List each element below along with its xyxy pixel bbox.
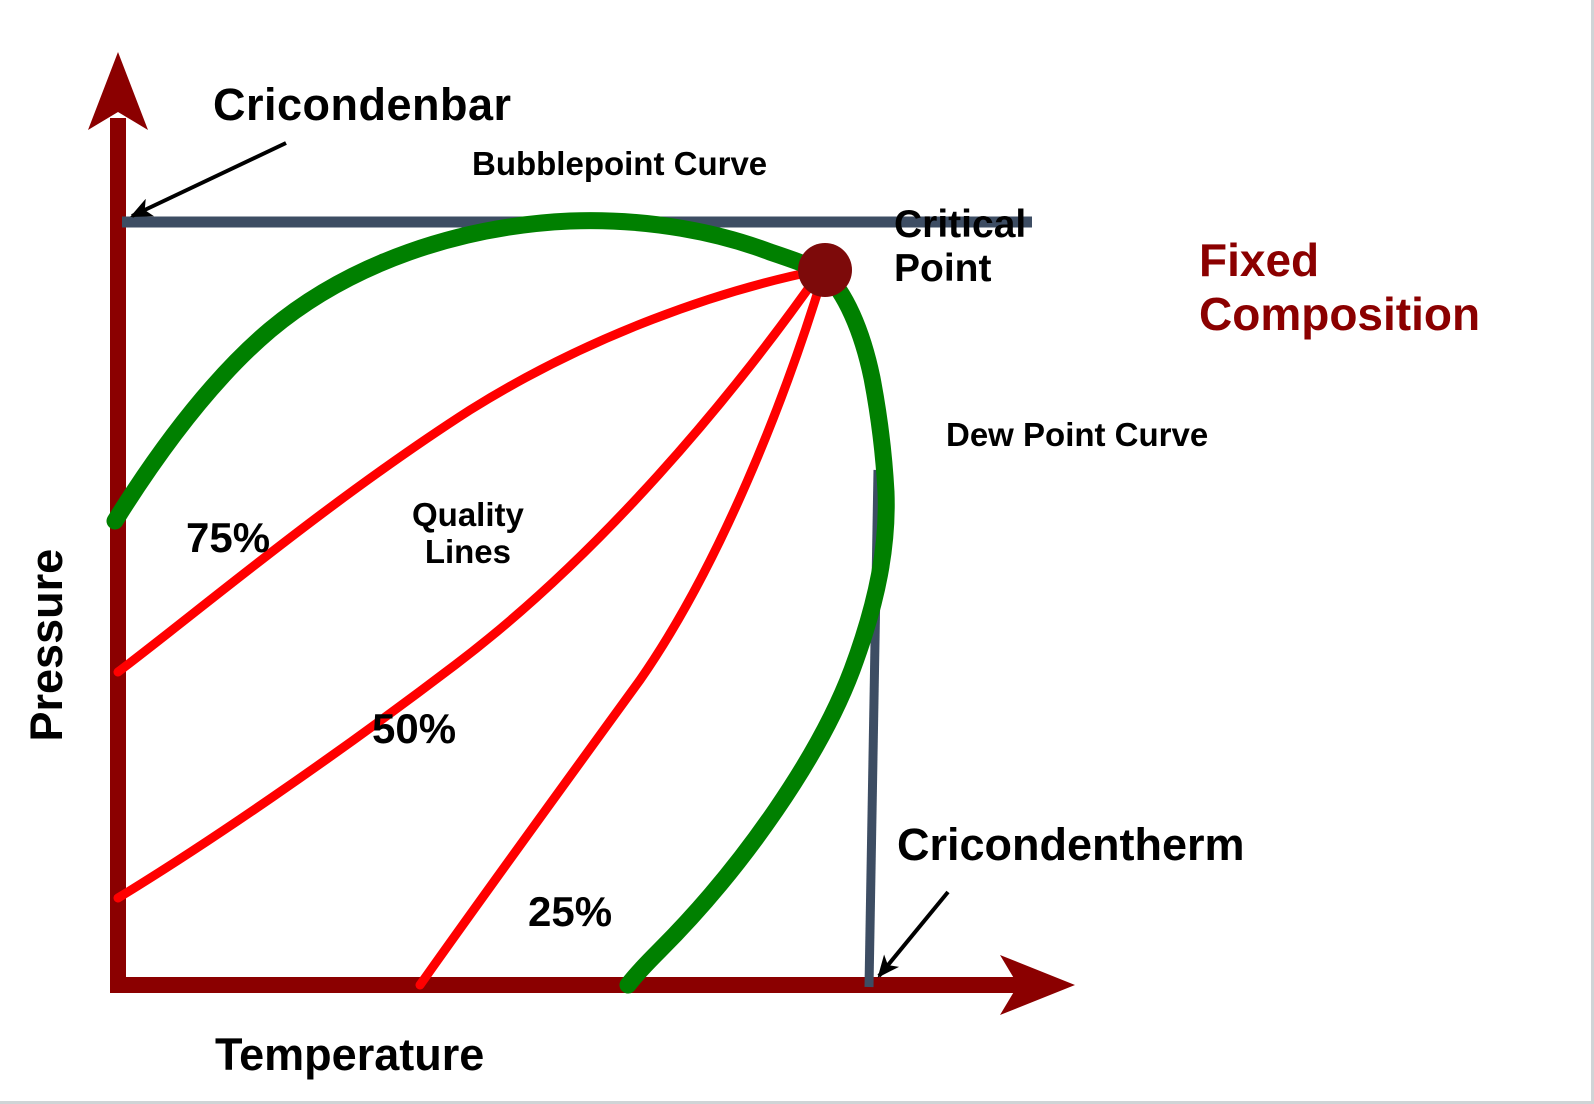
quality-lines-label-line1: Quality [412,497,524,534]
fixed-composition-label-line1: Fixed [1199,233,1480,287]
x-axis-label: Temperature [215,1030,484,1080]
quality-line-25-label: 25% [528,888,612,935]
critical-point-label-line2: Point [894,247,1026,291]
cricondentherm-arrow [879,892,948,976]
cricondentherm-label: Cricondentherm [897,820,1245,870]
quality-line-50-label: 50% [372,705,456,752]
critical-point-label-line1: Critical [894,203,1026,247]
fixed-composition-label-line2: Composition [1199,287,1480,341]
bubblepoint-curve [115,221,824,521]
cricondenbar-arrow [132,143,286,216]
cricondenbar-label: Cricondenbar [213,80,512,130]
y-axis-line [110,118,126,993]
fixed-composition-label: Fixed Composition [1199,233,1480,342]
critical-point-marker [798,243,852,297]
quality-line-75-label: 75% [186,514,270,561]
phase-diagram-figure: Cricondenbar Bubblepoint Curve Critical … [0,0,1594,1104]
quality-line-75 [118,270,820,672]
dew-point-curve [628,272,886,985]
critical-point-label: Critical Point [894,203,1026,290]
bubblepoint-curve-label: Bubblepoint Curve [472,146,767,183]
dew-point-curve-label: Dew Point Curve [946,417,1208,454]
quality-lines-label-line2: Lines [412,534,524,571]
quality-line-25 [420,275,823,985]
quality-lines-label: Quality Lines [412,497,524,571]
y-axis-label: Pressure [22,549,72,742]
x-axis-line [110,977,1035,993]
